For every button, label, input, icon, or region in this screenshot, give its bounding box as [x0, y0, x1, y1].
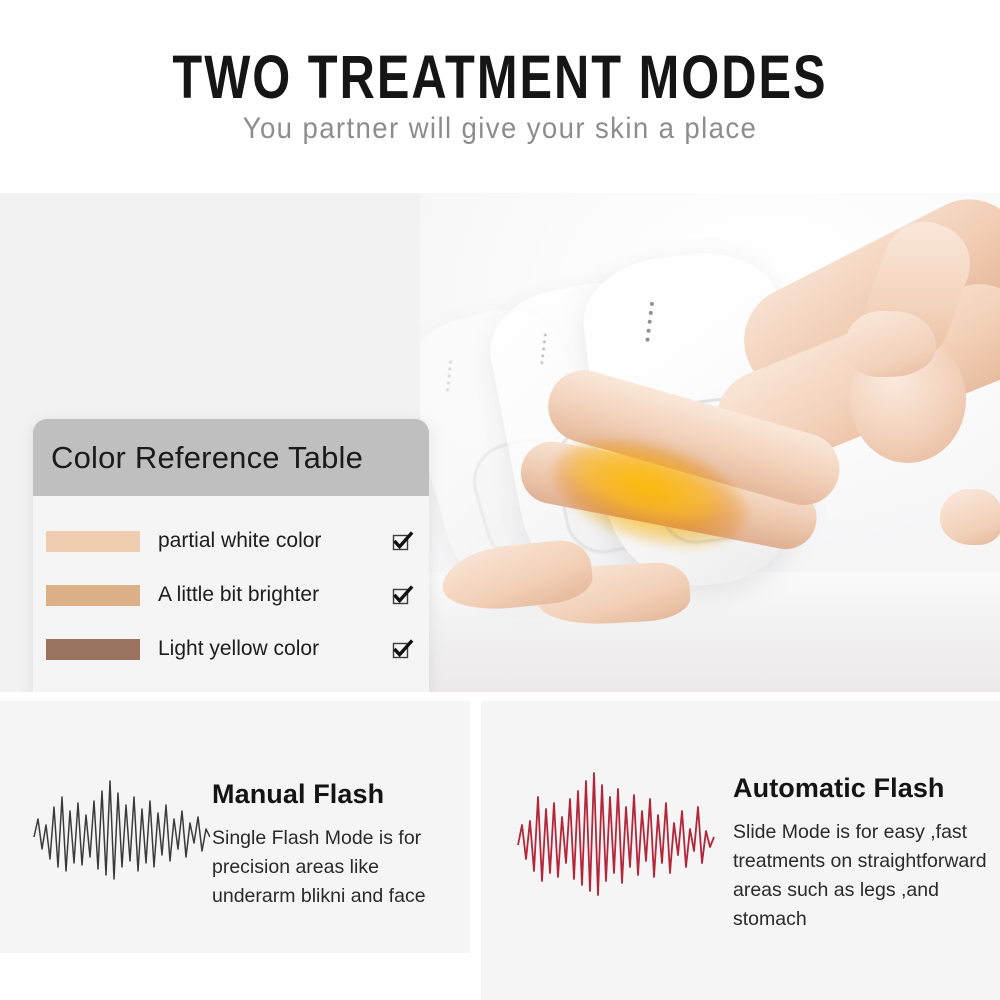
table-row: Wheat & Chamomile	[33, 676, 429, 692]
card-body: partial white color A little bit brighte…	[33, 496, 429, 692]
table-row: Light yellow color	[33, 622, 429, 676]
checkbox-checked-icon	[389, 583, 415, 607]
hand-lower	[940, 489, 1000, 545]
checkbox-checked-icon	[389, 529, 415, 553]
manual-flash-panel: Manual Flash Single Flash Mode is for pr…	[0, 701, 470, 953]
row-label: partial white color	[140, 529, 389, 553]
row-label: Wheat & Chamomile	[140, 691, 389, 692]
automatic-flash-panel: Automatic Flash Slide Mode is for easy ,…	[481, 701, 1000, 1000]
page-title: TWO TREATMENT MODES	[100, 42, 900, 112]
header-section: TWO TREATMENT MODES You partner will giv…	[0, 0, 1000, 193]
hero-section: Color Reference Table partial white colo…	[0, 193, 1000, 692]
row-label: A little bit brighter	[140, 583, 389, 607]
automatic-flash-title: Automatic Flash	[733, 773, 1000, 804]
color-swatch	[46, 639, 140, 660]
card-header: Color Reference Table	[33, 419, 429, 496]
row-label: Light yellow color	[140, 637, 389, 661]
manual-flash-title: Manual Flash	[212, 779, 462, 810]
table-row: A little bit brighter	[33, 568, 429, 622]
color-reference-card: Color Reference Table partial white colo…	[33, 419, 429, 692]
automatic-flash-text: Automatic Flash Slide Mode is for easy ,…	[733, 773, 1000, 933]
product-photo	[420, 193, 1000, 692]
color-swatch	[46, 531, 140, 552]
waveform-automatic-icon	[516, 763, 716, 911]
led-indicator-dots	[645, 302, 654, 342]
manual-flash-description: Single Flash Mode is for precision areas…	[212, 824, 462, 911]
color-swatch	[46, 585, 140, 606]
hand-on-knee	[844, 311, 936, 377]
table-row: partial white color	[33, 514, 429, 568]
waveform-manual-icon	[32, 767, 210, 895]
checkbox-checked-icon	[389, 637, 415, 661]
automatic-flash-description: Slide Mode is for easy ,fast treatments …	[733, 818, 1000, 933]
page-subtitle: You partner will give your skin a place	[40, 112, 960, 146]
card-title: Color Reference Table	[51, 440, 363, 476]
manual-flash-text: Manual Flash Single Flash Mode is for pr…	[212, 779, 462, 911]
checkbox-checked-icon	[389, 691, 415, 692]
